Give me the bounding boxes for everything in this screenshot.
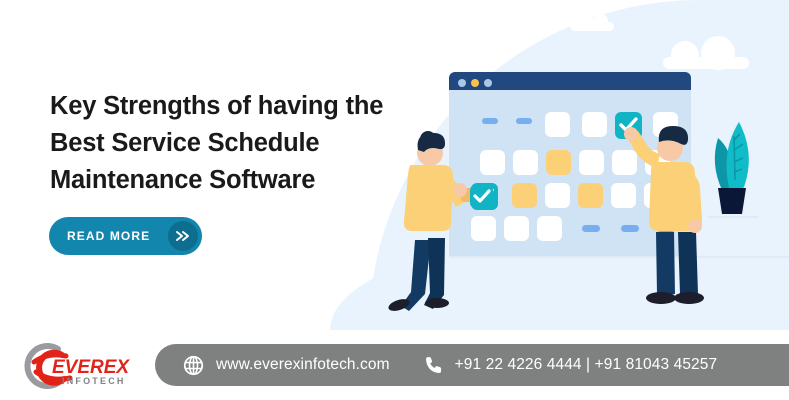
contact-footer-bar: www.everexinfotech.com +91 22 4226 4444 …: [155, 344, 789, 386]
read-more-label: READ MORE: [67, 229, 150, 243]
logo-name: EVEREX: [52, 357, 130, 378]
potted-plant-icon: [707, 122, 759, 218]
window-dot-2: [471, 79, 479, 87]
website-url[interactable]: www.everexinfotech.com: [216, 356, 390, 374]
read-more-button[interactable]: READ MORE: [49, 217, 202, 255]
window-dot-3: [484, 79, 492, 87]
everex-infotech-logo: EVEREX INFOTECH: [14, 340, 144, 394]
window-dot-1: [458, 79, 466, 87]
page-title: Key Strengths of having the Best Service…: [50, 88, 400, 199]
phone-icon: [424, 355, 444, 375]
promotional-banner: Key Strengths of having the Best Service…: [0, 0, 789, 400]
held-checkbox: [470, 185, 493, 208]
globe-icon: [183, 355, 204, 376]
double-chevron-right-icon: [168, 221, 198, 251]
phone-numbers[interactable]: +91 22 4226 4444 | +91 81043 45257: [455, 356, 718, 374]
logo-tagline: INFOTECH: [62, 376, 126, 386]
